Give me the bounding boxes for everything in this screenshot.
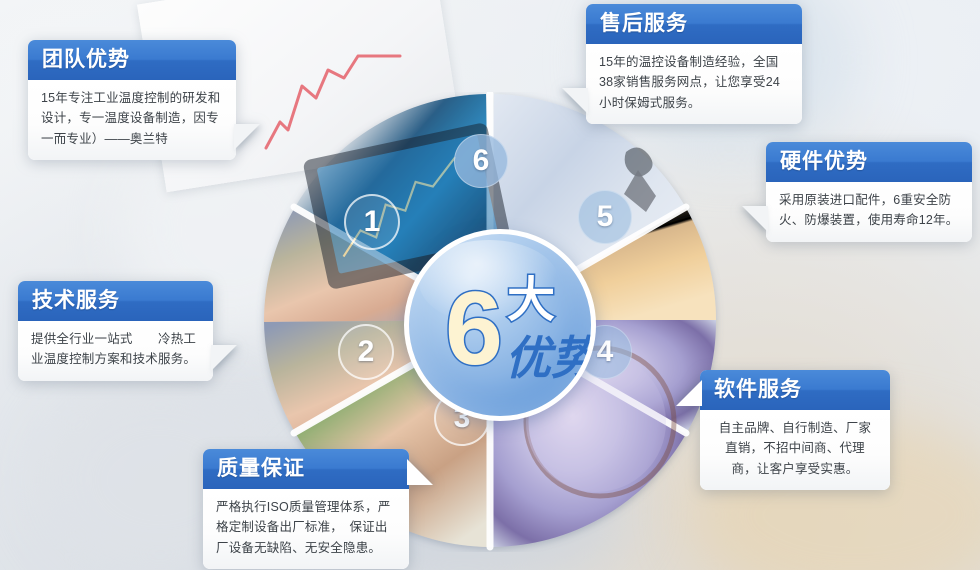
callout-card-technical[interactable]: 技术服务 提供全行业一站式 冷热工业温度控制方案和技术服务。 — [18, 281, 213, 381]
segment-number-6[interactable]: 6 — [454, 134, 508, 188]
card-title-software: 软件服务 — [700, 370, 890, 410]
card-title-after-sales: 售后服务 — [586, 4, 802, 44]
card-body-software: 自主品牌、自行制造、厂家直销，不招中间商、代理商，让客户享受实惠。 — [700, 410, 890, 490]
callout-tail — [234, 124, 260, 150]
card-body-quality: 严格执行ISO质量管理体系，严格定制设备出厂标准， 保证出厂设备无缺陷、无安全隐… — [203, 489, 409, 569]
callout-tail — [742, 206, 768, 232]
center-badge-text: 6 大 优势 — [409, 234, 591, 416]
card-body-team: 15年专注工业温度控制的研发和设计，专一温度设备制造，因专一而专业）——奥兰特 — [28, 80, 236, 160]
callout-tail — [407, 459, 433, 485]
callout-card-team[interactable]: 团队优势 15年专注工业温度控制的研发和设计，专一温度设备制造，因专一而专业）—… — [28, 40, 236, 160]
card-title-team: 团队优势 — [28, 40, 236, 80]
card-title-quality: 质量保证 — [203, 449, 409, 489]
callout-card-after-sales[interactable]: 售后服务 15年的温控设备制造经验，全国38家销售服务网点，让您享受24小时保姆… — [586, 4, 802, 124]
infographic-canvas: 1 2 3 4 5 6 6 大 优势 团队优势 15年专注工业温度控制的研发和设… — [0, 0, 980, 570]
callout-tail — [562, 88, 588, 114]
card-body-after-sales: 15年的温控设备制造经验，全国38家销售服务网点，让您享受24小时保姆式服务。 — [586, 44, 802, 124]
card-title-technical: 技术服务 — [18, 281, 213, 321]
callout-card-software[interactable]: 软件服务 自主品牌、自行制造、厂家直销，不招中间商、代理商，让客户享受实惠。 — [700, 370, 890, 490]
center-big-number: 6 — [445, 271, 503, 387]
center-script-text: 优势 — [505, 331, 591, 385]
segment-number-1[interactable]: 1 — [344, 194, 400, 250]
card-body-technical: 提供全行业一站式 冷热工业温度控制方案和技术服务。 — [18, 321, 213, 381]
callout-tail — [211, 345, 237, 371]
callout-card-quality[interactable]: 质量保证 严格执行ISO质量管理体系，严格定制设备出厂标准， 保证出厂设备无缺陷… — [203, 449, 409, 569]
callout-tail — [676, 380, 702, 406]
card-body-hardware: 采用原装进口配件，6重安全防火、防爆装置，使用寿命12年。 — [766, 182, 972, 242]
callout-card-hardware[interactable]: 硬件优势 采用原装进口配件，6重安全防火、防爆装置，使用寿命12年。 — [766, 142, 972, 242]
card-title-hardware: 硬件优势 — [766, 142, 972, 182]
segment-number-2[interactable]: 2 — [338, 324, 394, 380]
center-big-char: 大 — [507, 272, 555, 328]
center-badge[interactable]: 6 大 优势 — [404, 229, 596, 421]
